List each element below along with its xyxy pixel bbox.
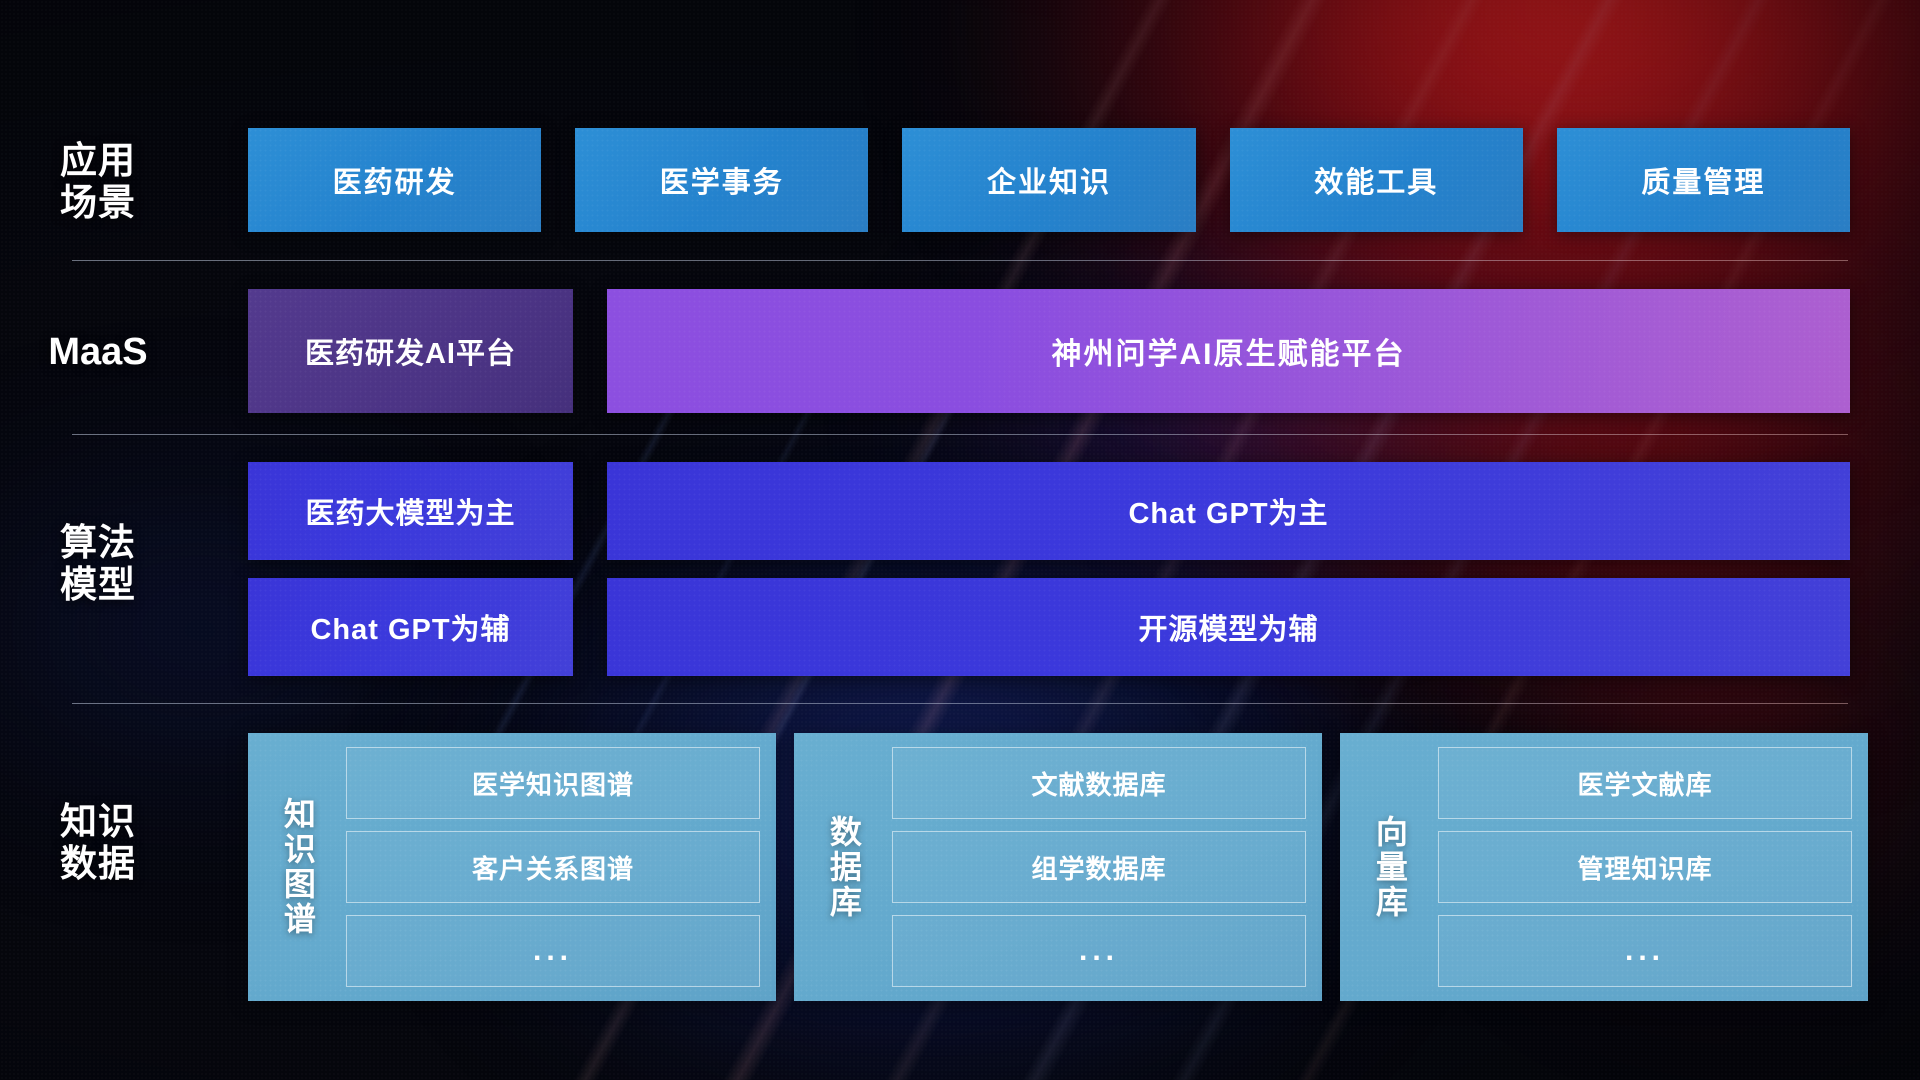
algo-tile-chatgpt-primary[interactable]: Chat GPT为主 bbox=[607, 462, 1850, 560]
knowledge-item-literature-database[interactable]: 文献数据库 bbox=[892, 747, 1306, 819]
maas-tile-pharma-ai-platform[interactable]: 医药研发AI平台 bbox=[248, 289, 573, 413]
app-tile-quality-management[interactable]: 质量管理 bbox=[1557, 128, 1850, 232]
knowledge-items-database: 文献数据库 组学数据库 ... bbox=[880, 747, 1306, 987]
divider-1 bbox=[72, 260, 1848, 261]
app-tile-efficiency-tools[interactable]: 效能工具 bbox=[1230, 128, 1523, 232]
row-label-line1: 知识 bbox=[0, 801, 196, 843]
knowledge-item-medical-knowledge-graph[interactable]: 医学知识图谱 bbox=[346, 747, 760, 819]
knowledge-item-more-vector[interactable]: ... bbox=[1438, 915, 1852, 987]
algo-tile-chatgpt-secondary[interactable]: Chat GPT为辅 bbox=[248, 578, 573, 676]
app-tile-medical-affairs[interactable]: 医学事务 bbox=[575, 128, 868, 232]
knowledge-items-vector-store: 医学文献库 管理知识库 ... bbox=[1426, 747, 1852, 987]
maas-tile-shenzhou-wenxue-platform[interactable]: 神州问学AI原生赋能平台 bbox=[607, 289, 1850, 413]
knowledge-item-more-graph[interactable]: ... bbox=[346, 915, 760, 987]
row-maas: MaaS 医药研发AI平台 神州问学AI原生赋能平台 bbox=[0, 289, 1920, 419]
knowledge-group-database[interactable]: 数据库 文献数据库 组学数据库 ... bbox=[794, 733, 1322, 1001]
app-tile-pharma-rd[interactable]: 医药研发 bbox=[248, 128, 541, 232]
architecture-diagram: 应用 场景 医药研发 医学事务 企业知识 效能工具 质量管理 MaaS 医药研发… bbox=[0, 0, 1920, 1080]
algorithm-row-primary: 医药大模型为主 Chat GPT为主 bbox=[248, 462, 1850, 560]
row-label-line2: 数据 bbox=[0, 843, 196, 885]
row-knowledge-data: 知识 数据 知识图谱 医学知识图谱 客户关系图谱 ... 数据库 文献数据库 组… bbox=[0, 733, 1920, 973]
row-label-knowledge-data: 知识 数据 bbox=[0, 801, 196, 885]
row-application-scenario: 应用 场景 医药研发 医学事务 企业知识 效能工具 质量管理 bbox=[0, 128, 1920, 246]
knowledge-group-knowledge-graph[interactable]: 知识图谱 医学知识图谱 客户关系图谱 ... bbox=[248, 733, 776, 1001]
knowledge-group-title-knowledge-graph: 知识图谱 bbox=[260, 747, 334, 987]
row-label-algorithm-model: 算法 模型 bbox=[0, 522, 196, 606]
row-label-line2: 场景 bbox=[0, 182, 196, 224]
divider-3 bbox=[72, 703, 1848, 704]
knowledge-group-title-vector-store: 向量库 bbox=[1352, 747, 1426, 987]
divider-2 bbox=[72, 434, 1848, 435]
knowledge-items-knowledge-graph: 医学知识图谱 客户关系图谱 ... bbox=[334, 747, 760, 987]
algo-tile-opensource-secondary[interactable]: 开源模型为辅 bbox=[607, 578, 1850, 676]
algo-tile-pharma-llm-primary[interactable]: 医药大模型为主 bbox=[248, 462, 573, 560]
row-label-maas: MaaS bbox=[0, 331, 196, 374]
row-algorithm-model: 算法 模型 医药大模型为主 Chat GPT为主 Chat GPT为辅 开源模型… bbox=[0, 462, 1920, 692]
knowledge-group-vector-store[interactable]: 向量库 医学文献库 管理知识库 ... bbox=[1340, 733, 1868, 1001]
algorithm-row-secondary: Chat GPT为辅 开源模型为辅 bbox=[248, 578, 1850, 676]
knowledge-item-more-database[interactable]: ... bbox=[892, 915, 1306, 987]
algorithm-tiles-track: 医药大模型为主 Chat GPT为主 Chat GPT为辅 开源模型为辅 bbox=[248, 462, 1850, 676]
knowledge-group-title-database: 数据库 bbox=[806, 747, 880, 987]
application-tiles-track: 医药研发 医学事务 企业知识 效能工具 质量管理 bbox=[248, 128, 1850, 232]
row-label-line2: 模型 bbox=[0, 564, 196, 606]
knowledge-groups-track: 知识图谱 医学知识图谱 客户关系图谱 ... 数据库 文献数据库 组学数据库 .… bbox=[248, 733, 1850, 973]
knowledge-item-management-knowledge-store[interactable]: 管理知识库 bbox=[1438, 831, 1852, 903]
app-tile-enterprise-knowledge[interactable]: 企业知识 bbox=[902, 128, 1195, 232]
row-label-application-scenario: 应用 场景 bbox=[0, 140, 196, 224]
maas-tiles-track: 医药研发AI平台 神州问学AI原生赋能平台 bbox=[248, 289, 1850, 413]
row-label-line1: 应用 bbox=[0, 140, 196, 182]
knowledge-item-omics-database[interactable]: 组学数据库 bbox=[892, 831, 1306, 903]
knowledge-item-medical-literature-store[interactable]: 医学文献库 bbox=[1438, 747, 1852, 819]
row-label-line1: 算法 bbox=[0, 522, 196, 564]
knowledge-item-customer-relation-graph[interactable]: 客户关系图谱 bbox=[346, 831, 760, 903]
